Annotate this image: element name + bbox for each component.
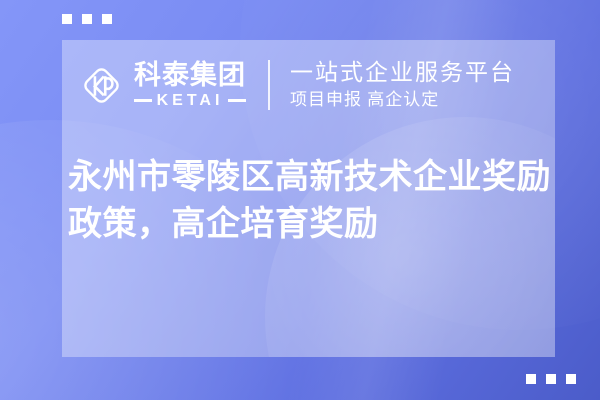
square-dot-icon <box>82 14 92 24</box>
decorative-dots-top-left <box>62 14 112 24</box>
brand-name-en-row: KETAI <box>134 93 246 109</box>
dash-left-icon <box>134 99 152 102</box>
square-dot-icon <box>526 374 536 384</box>
square-dot-icon <box>546 374 556 384</box>
ketai-diamond-monogram-icon <box>78 62 125 109</box>
header-divider <box>268 60 270 110</box>
tagline-block: 一站式企业服务平台 项目申报 高企认定 <box>290 59 545 110</box>
brand-name-en: KETAI <box>157 93 224 109</box>
brand-logo-text: 科泰集团 KETAI <box>134 61 246 108</box>
brand-logo: 科泰集团 KETAI <box>78 61 246 108</box>
square-dot-icon <box>62 14 72 24</box>
dash-right-icon <box>228 99 246 102</box>
square-dot-icon <box>102 14 112 24</box>
tagline-primary: 一站式企业服务平台 <box>290 59 545 86</box>
banner-header: 科泰集团 KETAI 一站式企业服务平台 项目申报 高企认定 <box>78 46 545 124</box>
promo-banner: 科泰集团 KETAI 一站式企业服务平台 项目申报 高企认定 永州市零陵区高新技… <box>0 0 600 400</box>
tagline-secondary: 项目申报 高企认定 <box>290 89 545 111</box>
decorative-dots-bottom-right <box>526 374 576 384</box>
brand-name-cn: 科泰集团 <box>134 61 246 89</box>
content-card: 科泰集团 KETAI 一站式企业服务平台 项目申报 高企认定 永州市零陵区高新技… <box>62 40 555 357</box>
square-dot-icon <box>566 374 576 384</box>
page-title: 永州市零陵区高新技术企业奖励政策，高企培育奖励 <box>68 154 555 248</box>
